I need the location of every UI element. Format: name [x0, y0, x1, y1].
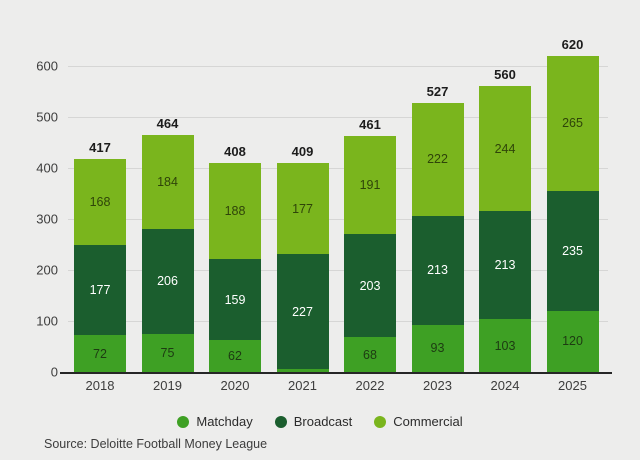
y-axis-tick-label: 100	[12, 314, 58, 329]
bar-series-container: 7217716841775206184464621591884082271774…	[68, 46, 608, 372]
bar-segment-matchday[interactable]: 103	[479, 319, 531, 372]
legend-item-commercial[interactable]: Commercial	[374, 414, 462, 429]
x-axis-tick-label: 2018	[74, 378, 126, 393]
bar-segment-commercial[interactable]: 168	[74, 159, 126, 245]
stacked-bar-chart: 0100200300400500600 72177168417752061844…	[0, 0, 640, 460]
legend-item-matchday[interactable]: Matchday	[177, 414, 252, 429]
bar-total-label: 461	[344, 117, 396, 132]
x-axis-tick-label: 2021	[277, 378, 329, 393]
bar-stack: 68203191	[344, 136, 396, 372]
bar-total-label: 408	[209, 144, 261, 159]
x-axis-tick-label: 2022	[344, 378, 396, 393]
legend-swatch-icon	[275, 416, 287, 428]
bar-segment-matchday[interactable]	[277, 369, 329, 372]
bar-segment-matchday[interactable]: 62	[209, 340, 261, 372]
bar-segment-commercial[interactable]: 265	[547, 56, 599, 191]
y-axis-tick-label: 600	[12, 59, 58, 74]
bar-group[interactable]: 103213244	[479, 46, 531, 372]
bar-group[interactable]: 68203191	[344, 46, 396, 372]
bar-stack: 62159188	[209, 163, 261, 372]
legend-label: Commercial	[393, 414, 462, 429]
bar-total-label: 417	[74, 140, 126, 155]
y-axis-tick-label: 500	[12, 110, 58, 125]
bar-group[interactable]: 120235265	[547, 46, 599, 372]
bar-segment-broadcast[interactable]: 159	[209, 259, 261, 340]
bar-stack: 72177168	[74, 159, 126, 372]
bar-segment-commercial[interactable]: 177	[277, 163, 329, 253]
legend-swatch-icon	[177, 416, 189, 428]
bar-segment-matchday[interactable]: 75	[142, 334, 194, 372]
legend-swatch-icon	[374, 416, 386, 428]
bar-segment-broadcast[interactable]: 206	[142, 229, 194, 334]
bar-group[interactable]: 72177168	[74, 46, 126, 372]
bar-segment-broadcast[interactable]: 213	[479, 211, 531, 320]
y-axis-tick-label: 300	[12, 212, 58, 227]
bar-segment-broadcast[interactable]: 235	[547, 191, 599, 311]
bar-group[interactable]: 75206184	[142, 46, 194, 372]
bar-total-label: 620	[547, 37, 599, 52]
bar-segment-commercial[interactable]: 191	[344, 136, 396, 233]
bar-segment-commercial[interactable]: 222	[412, 103, 464, 216]
x-axis-labels: 20182019202020212022202320242025	[68, 378, 608, 398]
y-axis: 0100200300400500600	[10, 66, 58, 372]
bar-segment-broadcast[interactable]: 213	[412, 216, 464, 325]
bar-stack: 93213222	[412, 103, 464, 372]
bar-segment-broadcast[interactable]: 177	[74, 245, 126, 335]
x-axis-tick-label: 2024	[479, 378, 531, 393]
bar-total-label: 560	[479, 67, 531, 82]
legend-item-broadcast[interactable]: Broadcast	[275, 414, 353, 429]
bar-total-label: 527	[412, 84, 464, 99]
x-axis-tick-label: 2023	[412, 378, 464, 393]
x-axis-line	[60, 372, 612, 374]
bar-group[interactable]: 227177	[277, 46, 329, 372]
bar-total-label: 464	[142, 116, 194, 131]
bar-segment-commercial[interactable]: 244	[479, 86, 531, 210]
legend-label: Matchday	[196, 414, 252, 429]
bar-segment-matchday[interactable]: 120	[547, 311, 599, 372]
chart-legend: MatchdayBroadcastCommercial	[0, 414, 640, 429]
bar-segment-commercial[interactable]: 188	[209, 163, 261, 259]
bar-stack: 120235265	[547, 56, 599, 372]
y-axis-tick-label: 0	[12, 365, 58, 380]
bar-segment-commercial[interactable]: 184	[142, 135, 194, 229]
bar-segment-broadcast[interactable]: 203	[344, 234, 396, 338]
x-axis-tick-label: 2025	[547, 378, 599, 393]
x-axis-tick-label: 2019	[142, 378, 194, 393]
bar-segment-matchday[interactable]: 72	[74, 335, 126, 372]
bar-segment-broadcast[interactable]: 227	[277, 254, 329, 370]
y-axis-tick-label: 200	[12, 263, 58, 278]
y-axis-tick-label: 400	[12, 161, 58, 176]
x-axis-tick-label: 2020	[209, 378, 261, 393]
bar-segment-matchday[interactable]: 93	[412, 325, 464, 372]
bar-stack: 103213244	[479, 86, 531, 372]
bar-stack: 227177	[277, 163, 329, 372]
bar-segment-matchday[interactable]: 68	[344, 337, 396, 372]
bar-stack: 75206184	[142, 135, 194, 372]
source-caption: Source: Deloitte Football Money League	[44, 437, 267, 451]
bar-total-label: 409	[277, 144, 329, 159]
legend-label: Broadcast	[294, 414, 353, 429]
bar-group[interactable]: 62159188	[209, 46, 261, 372]
